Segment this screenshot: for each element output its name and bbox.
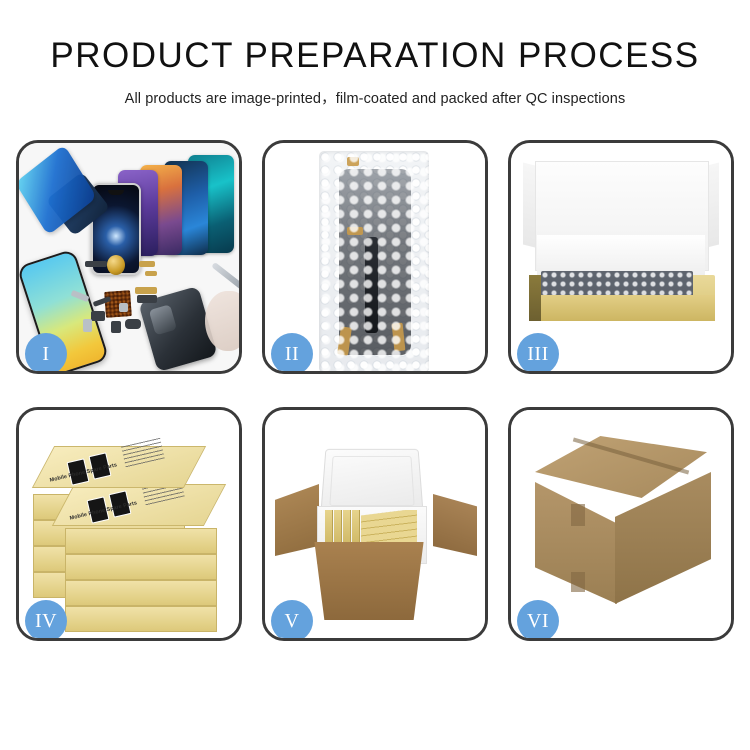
step-badge-3: III xyxy=(517,333,559,371)
tape-mid-icon xyxy=(347,227,363,235)
step-badge-3-label: III xyxy=(527,343,548,366)
process-step-panel-5: V xyxy=(262,407,488,641)
step-2-illustration: II xyxy=(265,143,485,371)
carton-body-icon xyxy=(307,542,431,620)
retail-box-edge-5 xyxy=(65,528,217,554)
product-preparation-infographic: PRODUCT PREPARATION PROCESS All products… xyxy=(0,0,750,750)
step-badge-6: VI xyxy=(517,600,559,638)
bubble-wrap-bag-icon xyxy=(319,151,429,371)
part-sim-tray-icon xyxy=(83,319,92,332)
part-camera-icon xyxy=(111,321,121,333)
part-strip-icon xyxy=(85,261,107,267)
process-step-panel-1: I xyxy=(16,140,242,374)
tape-top-icon xyxy=(347,157,359,166)
process-step-grid: I II xyxy=(16,140,734,641)
step-1-illustration: I xyxy=(19,143,239,371)
part-gold-strip-icon xyxy=(135,287,157,294)
retail-box-edge-6 xyxy=(65,554,217,580)
step-badge-6-label: VI xyxy=(527,610,549,633)
step-badge-2-label: II xyxy=(285,343,299,366)
step-3-illustration: III xyxy=(511,143,731,371)
step-badge-4-label: IV xyxy=(35,610,57,633)
process-step-panel-4: Mobile Phone Spare Parts Mobile Phone Sp… xyxy=(16,407,242,641)
part-chip-icon xyxy=(137,295,157,303)
speaker-module-icon xyxy=(107,255,125,275)
process-step-panel-2: II xyxy=(262,140,488,374)
foam-box-lid-icon xyxy=(320,449,423,515)
wrapped-flex-cable-icon xyxy=(365,237,378,333)
kraft-box-front-icon xyxy=(529,295,715,321)
step-badge-2: II xyxy=(271,333,313,371)
part-small-metal-icon xyxy=(119,303,128,312)
part-gold-flex-icon xyxy=(139,261,155,267)
step-4-illustration: Mobile Phone Spare Parts Mobile Phone Sp… xyxy=(19,410,239,638)
carton-tape-lower-icon xyxy=(571,572,585,592)
step-badge-4: IV xyxy=(25,600,67,638)
part-gold-clip-icon xyxy=(145,271,157,276)
process-step-panel-6: VI xyxy=(508,407,734,641)
retail-box-edge-7 xyxy=(65,580,217,606)
part-connector-icon xyxy=(91,311,105,321)
part-button-icon xyxy=(125,319,141,329)
carton-tape-upper-icon xyxy=(571,504,585,526)
retail-box-stack: Mobile Phone Spare Parts Mobile Phone Sp… xyxy=(33,432,233,622)
header: PRODUCT PREPARATION PROCESS All products… xyxy=(0,0,750,108)
step-5-illustration: V xyxy=(265,410,485,638)
step-6-illustration: VI xyxy=(511,410,731,638)
retail-box-edge-8 xyxy=(65,606,217,632)
step-badge-1-label: I xyxy=(42,343,49,366)
step-badge-5: V xyxy=(271,600,313,638)
page-title: PRODUCT PREPARATION PROCESS xyxy=(0,38,750,75)
process-step-panel-3: III xyxy=(508,140,734,374)
kraft-box-side-icon xyxy=(529,275,541,321)
step-badge-5-label: V xyxy=(285,610,300,633)
page-subtitle: All products are image-printed，film-coat… xyxy=(0,87,750,108)
step-badge-1: I xyxy=(25,333,67,371)
